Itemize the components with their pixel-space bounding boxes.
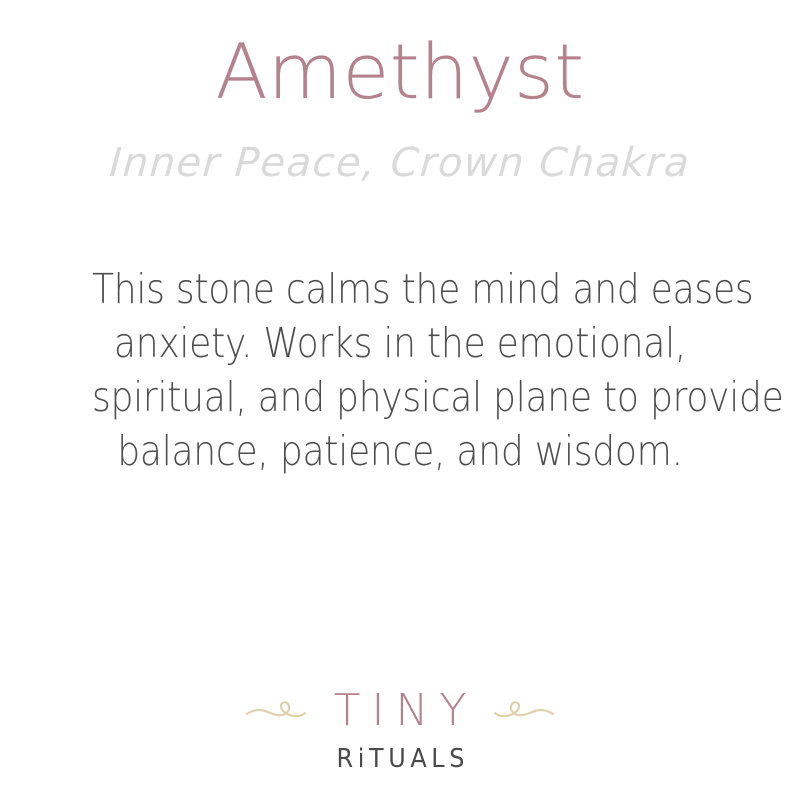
description-line: anxiety. Works in the emotional, (92, 316, 708, 370)
flourish-swirl-right-icon (493, 694, 555, 728)
brand-subtitle: RiTUALS (331, 746, 468, 772)
brand-logo: TINY RiTUALS (0, 686, 800, 772)
page-title: Amethyst (0, 32, 800, 112)
description-line: balance, patience, and wisdom. (92, 424, 708, 478)
brand-name: TINY (323, 689, 478, 733)
stone-subtitle: Inner Peace, Crown Chakra (0, 140, 800, 186)
description-line: spiritual, and physical plane to provide (92, 370, 708, 424)
flourish-swirl-left-icon (245, 694, 307, 728)
brand-logo-row: TINY (245, 686, 556, 736)
stone-description: This stone calms the mind and eases anxi… (92, 262, 708, 478)
description-line: This stone calms the mind and eases (92, 262, 708, 316)
amethyst-info-card: Amethyst Inner Peace, Crown Chakra This … (0, 0, 800, 802)
